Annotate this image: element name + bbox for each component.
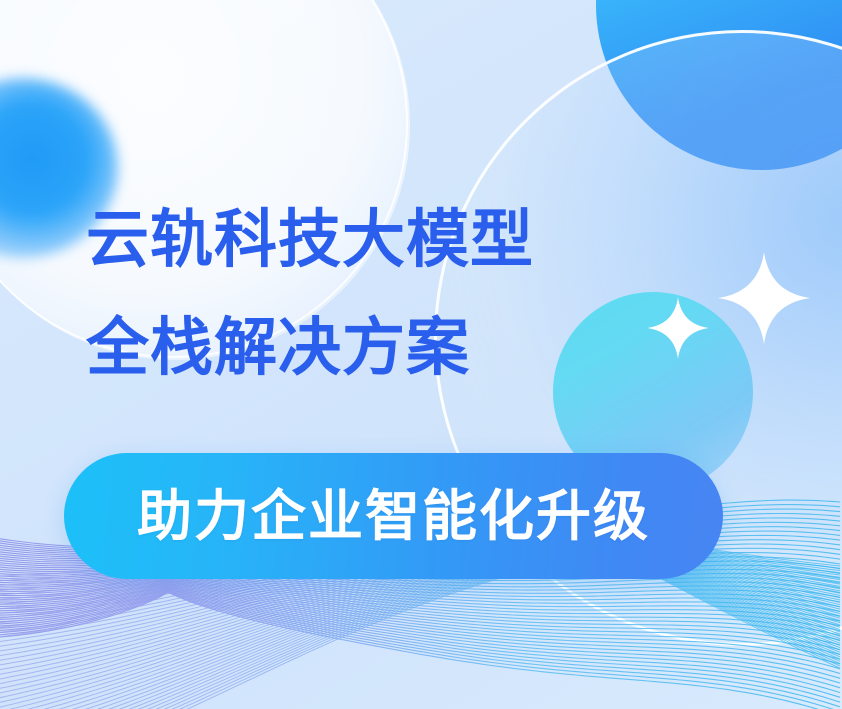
headline-line-2: 全栈解决方案 <box>86 294 706 402</box>
headline-line-1: 云轨科技大模型 <box>86 186 706 294</box>
promo-banner: 云轨科技大模型 全栈解决方案 助力企业智能化升级 <box>0 0 842 709</box>
cta-pill-button[interactable]: 助力企业智能化升级 <box>64 453 723 579</box>
banner-content: 云轨科技大模型 全栈解决方案 助力企业智能化升级 <box>0 0 842 709</box>
headline-block: 云轨科技大模型 全栈解决方案 <box>86 186 706 402</box>
cta-pill-label: 助力企业智能化升级 <box>137 489 650 544</box>
